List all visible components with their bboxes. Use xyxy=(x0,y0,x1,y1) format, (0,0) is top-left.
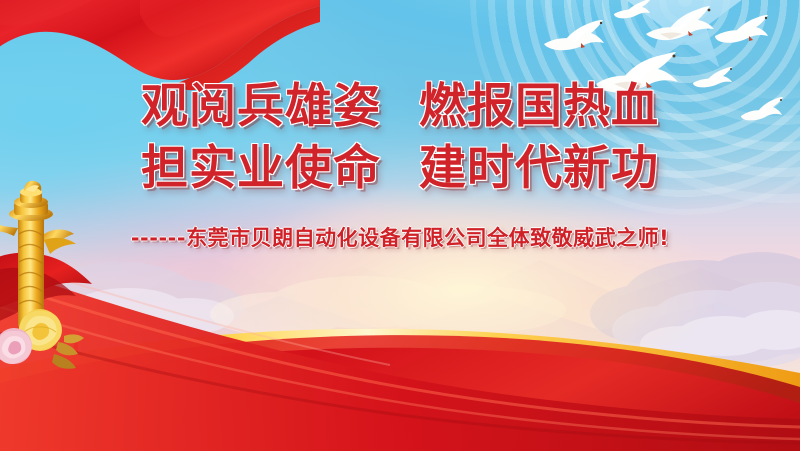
poster-canvas: 观阅兵雄姿燃报国热血 担实业使命建时代新功 ------东莞市贝朗自动化设备有限… xyxy=(0,0,800,451)
golden-huabiao-column xyxy=(0,178,126,378)
title-line-2-right: 建时代新功 xyxy=(419,141,659,196)
title-line-1: 观阅兵雄姿燃报国热血 xyxy=(0,76,800,138)
title-line-1-right: 燃报国热血 xyxy=(419,79,659,134)
title-line-2-left: 担实业使命 xyxy=(141,141,381,196)
poster-title-block: 观阅兵雄姿燃报国热血 担实业使命建时代新功 xyxy=(0,76,800,200)
title-line-2: 担实业使命建时代新功 xyxy=(0,138,800,200)
poster-subtitle: ------东莞市贝朗自动化设备有限公司全体致敬威武之师! xyxy=(0,222,800,252)
title-line-1-left: 观阅兵雄姿 xyxy=(141,79,381,134)
peony-flower xyxy=(0,309,84,369)
